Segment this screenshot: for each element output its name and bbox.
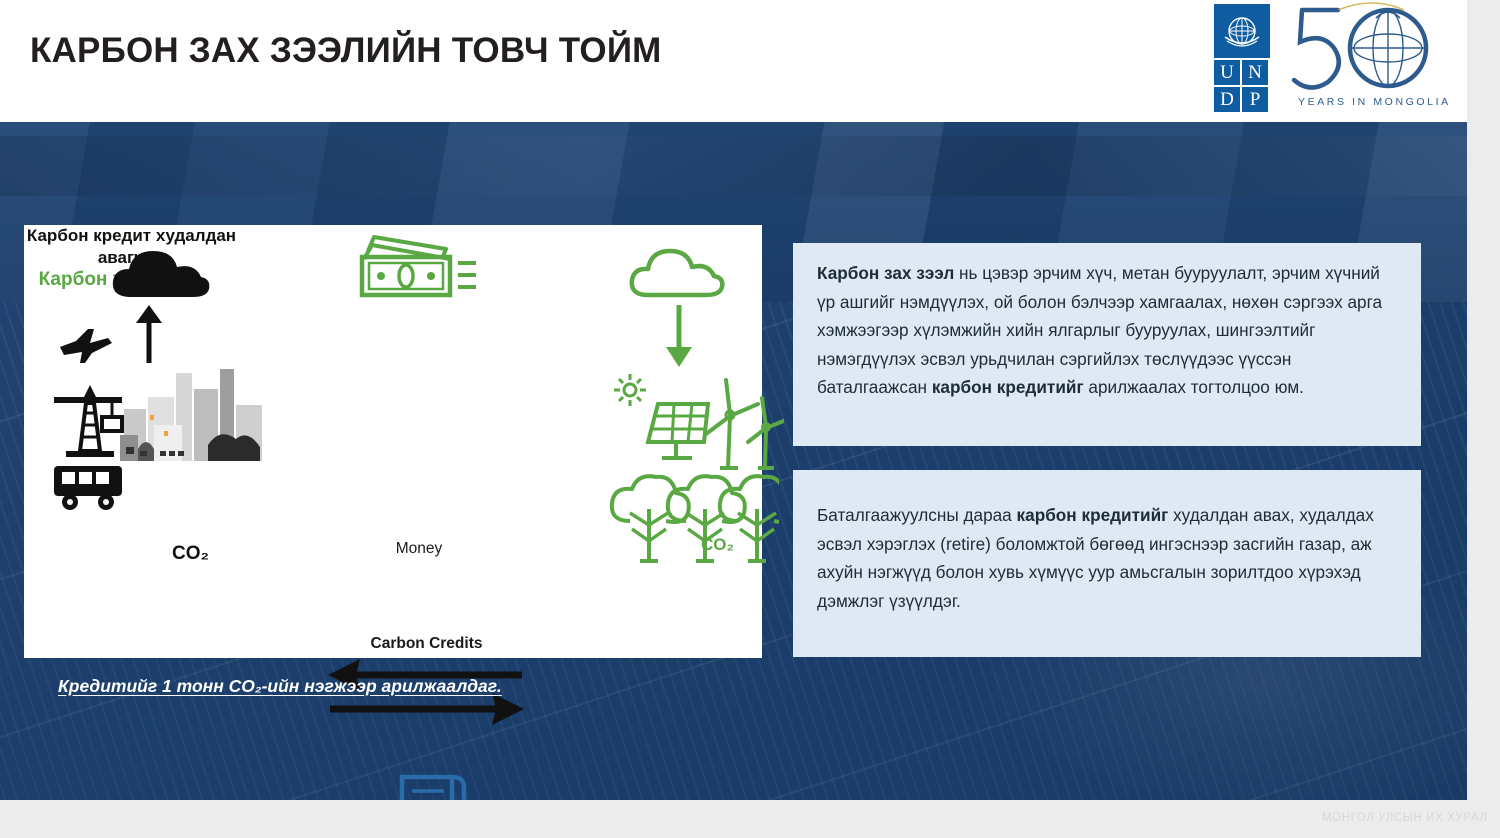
- carbon-market-diagram: CO₂: [24, 225, 762, 658]
- bus-icon: [52, 462, 128, 512]
- down-arrow-icon: [662, 303, 696, 369]
- undp-letter-d: D: [1214, 87, 1240, 112]
- crane-icon: [50, 383, 130, 463]
- money-icon: [354, 229, 480, 309]
- undp-mark: U N D P: [1214, 4, 1270, 112]
- watermark-label: МОНГОЛ УЛСЫН ИХ ХУРАЛ: [1322, 812, 1488, 824]
- cityscape-icon: [120, 365, 270, 475]
- undp-logo: U N D P YEARS IN MONGOLIA: [1214, 4, 1452, 116]
- cloud-green-icon: [624, 243, 734, 305]
- undp-letter-n: N: [1242, 60, 1268, 85]
- definition-textbox: Карбон зах зээл нь цэвэр эрчим хүч, мета…: [793, 243, 1421, 446]
- certificate-icon: [386, 773, 478, 800]
- slide-right-margin: [1467, 0, 1500, 838]
- sun-icon: [614, 374, 646, 406]
- slide-header: КАРБОН ЗАХ ЗЭЭЛИЙН ТОВЧ ТОЙМ: [0, 0, 1467, 122]
- trees-icon: [604, 465, 779, 575]
- cloud-dark-icon: [109, 245, 229, 305]
- undp-letter-p: P: [1242, 87, 1268, 112]
- diagram-caption: Кредитийг 1 тонн CO₂-ийн нэгжээр арилжаа…: [58, 676, 502, 697]
- co2-emission-label: CO₂: [172, 543, 209, 565]
- anniversary-label: YEARS IN MONGOLIA: [1298, 96, 1451, 108]
- usage-textbox: Баталгаажуулсны дараа карбон кредитийг х…: [793, 470, 1421, 657]
- slide-stage: КАРБОН ЗАХ ЗЭЭЛИЙН ТОВЧ ТОЙМ: [0, 0, 1500, 838]
- page-title: КАРБОН ЗАХ ЗЭЭЛИЙН ТОВЧ ТОЙМ: [30, 31, 662, 71]
- wind-turbine-icon: [748, 398, 784, 468]
- arrow-right-icon: [330, 693, 524, 725]
- un-emblem-icon: [1214, 4, 1270, 58]
- renewable-energy-icon: [614, 370, 784, 480]
- presentation-slide: КАРБОН ЗАХ ЗЭЭЛИЙН ТОВЧ ТОЙМ: [0, 0, 1467, 800]
- up-arrow-icon: [132, 303, 166, 365]
- wind-turbine-icon: [706, 380, 758, 468]
- undp-letters: U N D P: [1214, 60, 1270, 112]
- undp-letter-u: U: [1214, 60, 1240, 85]
- fifty-anniversary-icon: [1276, 0, 1452, 106]
- carbon-credits-label: Carbon Credits: [349, 635, 504, 653]
- airplane-icon: [58, 325, 114, 365]
- solar-panel-icon: [648, 404, 708, 458]
- money-label: Money: [354, 540, 484, 558]
